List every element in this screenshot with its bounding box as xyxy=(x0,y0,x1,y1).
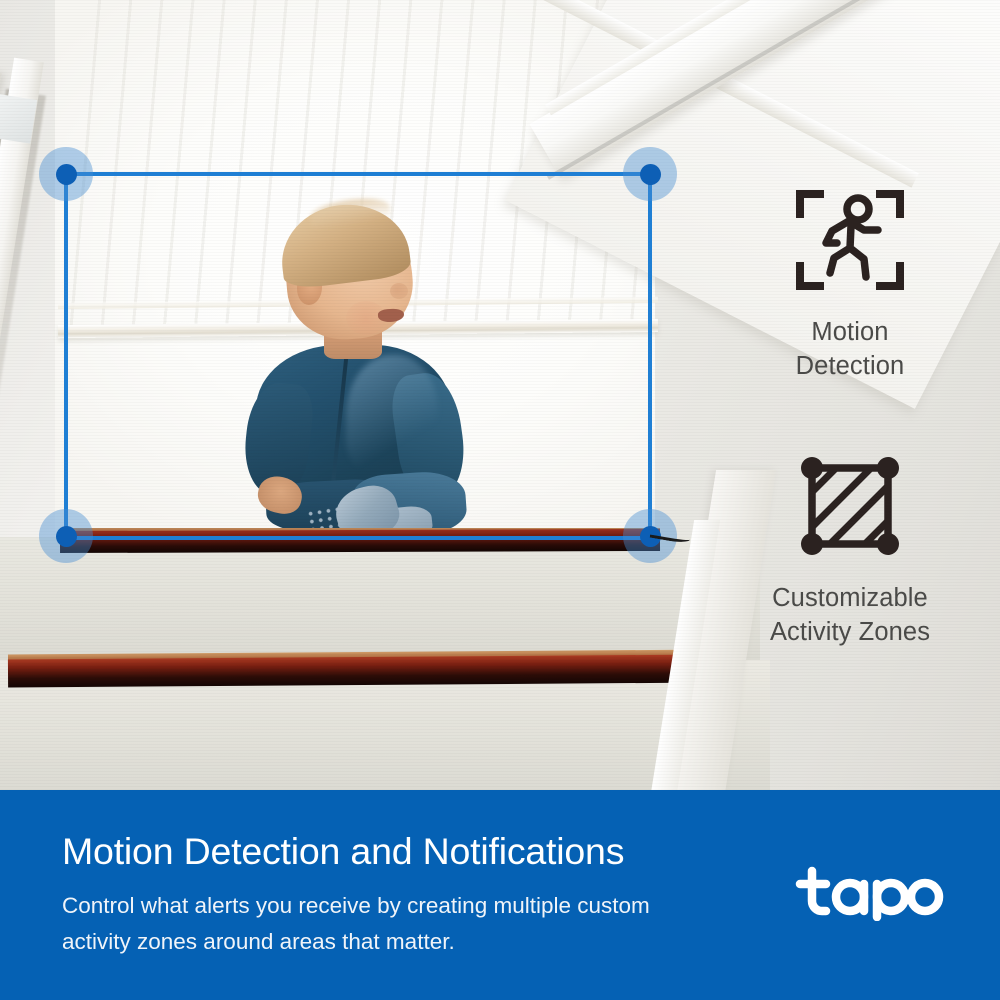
banner-subtitle-line1: Control what alerts you receive by creat… xyxy=(62,888,742,924)
zone-handle-top-right[interactable] xyxy=(623,147,677,201)
tapo-wordmark-icon xyxy=(792,865,944,921)
feature-caption: Motion Detection xyxy=(700,316,1000,384)
feature-caption: Customizable Activity Zones xyxy=(700,582,1000,650)
zone-edge-right[interactable] xyxy=(648,174,652,538)
feature-motion-detection: Motion Detection xyxy=(700,180,1000,384)
banner-subtitle: Control what alerts you receive by creat… xyxy=(62,888,742,960)
feature-caption-line2: Detection xyxy=(700,350,1000,384)
zone-handle-top-left[interactable] xyxy=(39,147,93,201)
feature-caption-line2: Activity Zones xyxy=(700,616,1000,650)
banner-subtitle-line2: activity zones around areas that matter. xyxy=(62,924,742,960)
feature-caption-line1: Motion xyxy=(700,316,1000,350)
zone-handle-bottom-left[interactable] xyxy=(39,509,93,563)
zone-edge-left[interactable] xyxy=(64,174,68,538)
zone-edge-bottom[interactable] xyxy=(66,536,650,540)
zone-edge-top[interactable] xyxy=(66,172,650,176)
feature-activity-zones: Customizable Activity Zones xyxy=(700,446,1000,650)
activity-zone-selection[interactable] xyxy=(66,174,650,538)
customizable-activity-zones-icon xyxy=(790,446,910,566)
tapo-logo xyxy=(792,862,952,924)
banner-title: Motion Detection and Notifications xyxy=(62,830,624,873)
promo-canvas: Motion Detection xyxy=(0,0,1000,1000)
feature-list: Motion Detection xyxy=(700,180,1000,650)
feature-caption-line1: Customizable xyxy=(700,582,1000,616)
motion-detection-icon xyxy=(790,180,910,300)
